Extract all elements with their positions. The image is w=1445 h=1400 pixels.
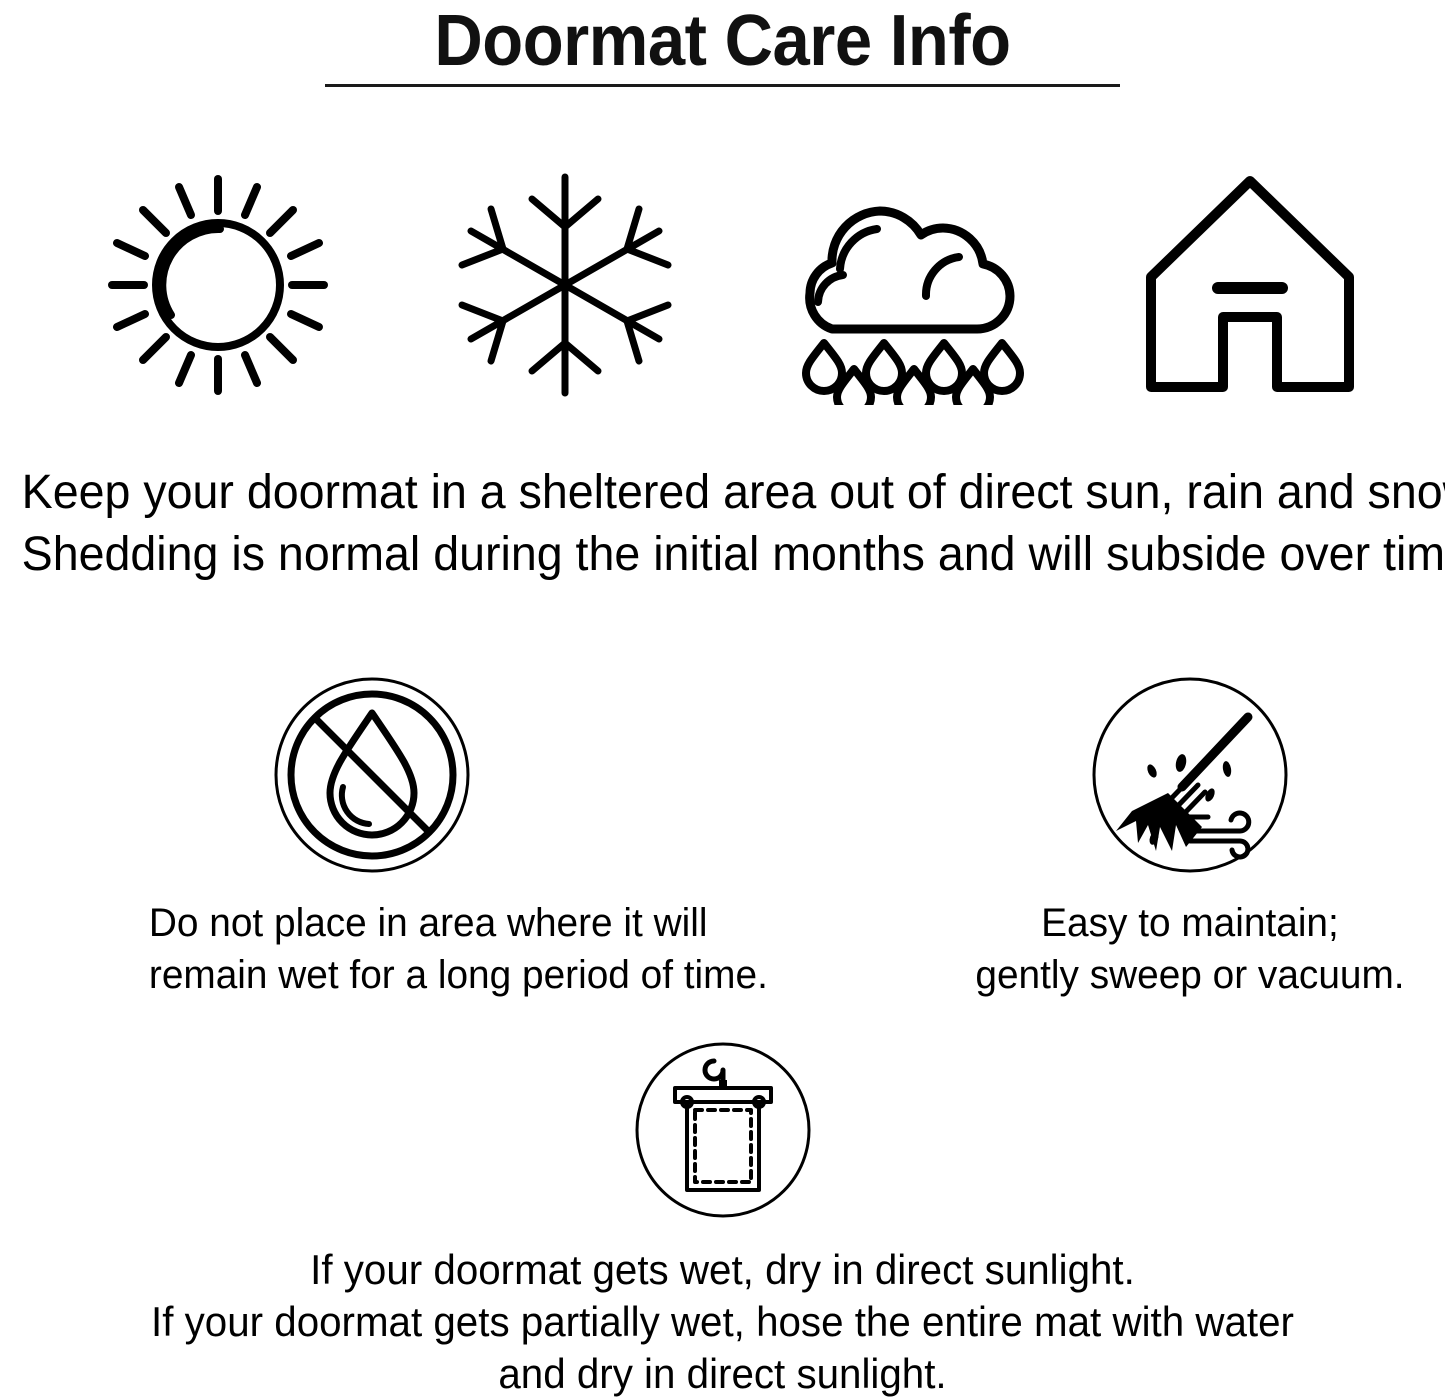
dry-caption: If your doormat gets wet, dry in direct … <box>29 1244 1416 1400</box>
broom-icon <box>1090 675 1290 875</box>
lead-paragraph: Keep your doormat in a sheltered area ou… <box>22 462 1424 586</box>
lead-line-1: Keep your doormat in a sheltered area ou… <box>22 462 1424 524</box>
weather-icon-row <box>0 165 1445 405</box>
header: Doormat Care Info <box>0 0 1445 80</box>
dry-line-3: and dry in direct sunlight. <box>29 1348 1416 1400</box>
no-water-line-2: remain wet for a long period of time. <box>149 949 595 1001</box>
care-info-page: Doormat Care Info <box>0 0 1445 1393</box>
hang-dry-icon <box>633 1040 813 1220</box>
dry-line-2: If your doormat gets partially wet, hose… <box>29 1296 1416 1348</box>
care-item-no-water: Do not place in area where it will remai… <box>142 675 602 1001</box>
dry-line-1: If your doormat gets wet, dry in direct … <box>29 1244 1416 1296</box>
lead-line-2: Shedding is normal during the initial mo… <box>22 524 1424 586</box>
page-title: Doormat Care Info <box>51 0 1395 80</box>
no-water-line-1: Do not place in area where it will <box>149 897 595 949</box>
dry-instructions: If your doormat gets wet, dry in direct … <box>0 1040 1445 1400</box>
title-underline-rule <box>325 84 1120 87</box>
care-item-sweep: Easy to maintain; gently sweep or vacuum… <box>960 675 1420 1001</box>
sweep-line-1: Easy to maintain; <box>967 897 1413 949</box>
house-icon <box>1125 165 1375 405</box>
rain-cloud-icon <box>780 165 1030 405</box>
sweep-caption: Easy to maintain; gently sweep or vacuum… <box>967 897 1413 1001</box>
sweep-line-2: gently sweep or vacuum. <box>967 949 1413 1001</box>
sun-icon <box>93 165 343 405</box>
no-water-icon <box>272 675 472 875</box>
snowflake-icon <box>440 165 690 405</box>
no-water-caption: Do not place in area where it will remai… <box>149 897 595 1001</box>
